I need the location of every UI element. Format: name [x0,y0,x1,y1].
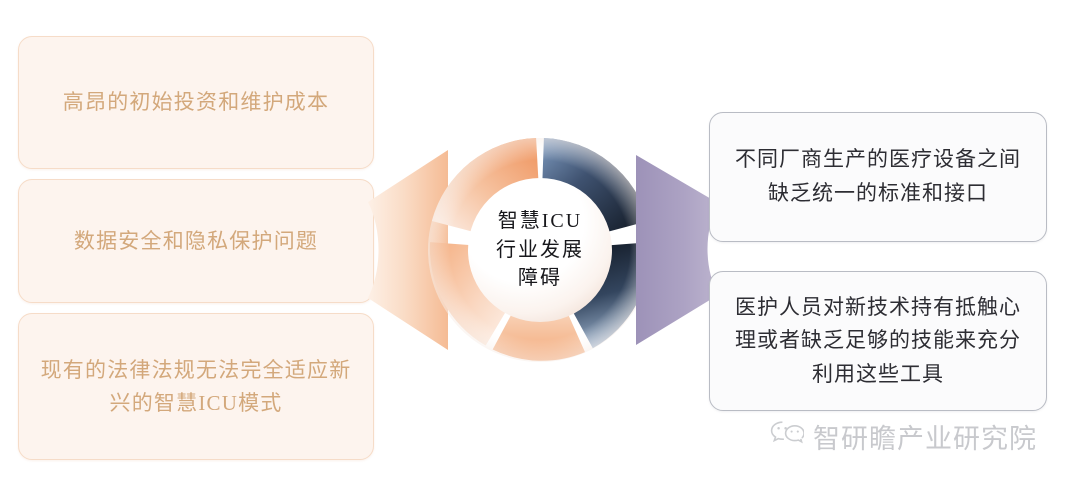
obstacle-card-right-2[interactable]: 医护人员对新技术持有抵触心理或者缺乏足够的技能来充分利用这些工具 [709,271,1047,411]
diagram-canvas: 高昂的初始投资和维护成本 数据安全和隐私保护问题 现有的法律法规无法完全适应新兴… [0,0,1080,484]
hub-label-line-2: 行业发展 [496,236,584,264]
obstacle-card-left-2-label: 数据安全和隐私保护问题 [60,225,332,258]
obstacle-card-right-1-label: 不同厂商生产的医疗设备之间缺乏统一的标准和接口 [710,143,1046,210]
obstacle-card-left-3[interactable]: 现有的法律法规无法完全适应新兴的智慧ICU模式 [18,313,374,460]
hub-label-line-3: 障碍 [518,264,562,292]
wechat-icon [770,420,804,454]
obstacle-card-left-1[interactable]: 高昂的初始投资和维护成本 [18,36,374,169]
obstacle-card-right-2-label: 医护人员对新技术持有抵触心理或者缺乏足够的技能来充分利用这些工具 [710,291,1046,392]
obstacle-card-left-2[interactable]: 数据安全和隐私保护问题 [18,179,374,303]
obstacle-card-left-1-label: 高昂的初始投资和维护成本 [49,86,343,119]
central-hub: 智慧ICU 行业发展 障碍 [424,134,656,366]
watermark-text: 智研瞻产业研究院 [813,417,1037,456]
obstacle-card-right-1[interactable]: 不同厂商生产的医疗设备之间缺乏统一的标准和接口 [709,112,1047,242]
obstacle-card-left-3-label: 现有的法律法规无法完全适应新兴的智慧ICU模式 [19,354,373,419]
watermark: 智研瞻产业研究院 [770,417,1037,456]
hub-label: 智慧ICU 行业发展 障碍 [424,134,656,366]
hub-label-line-1: 智慧ICU [498,207,582,235]
